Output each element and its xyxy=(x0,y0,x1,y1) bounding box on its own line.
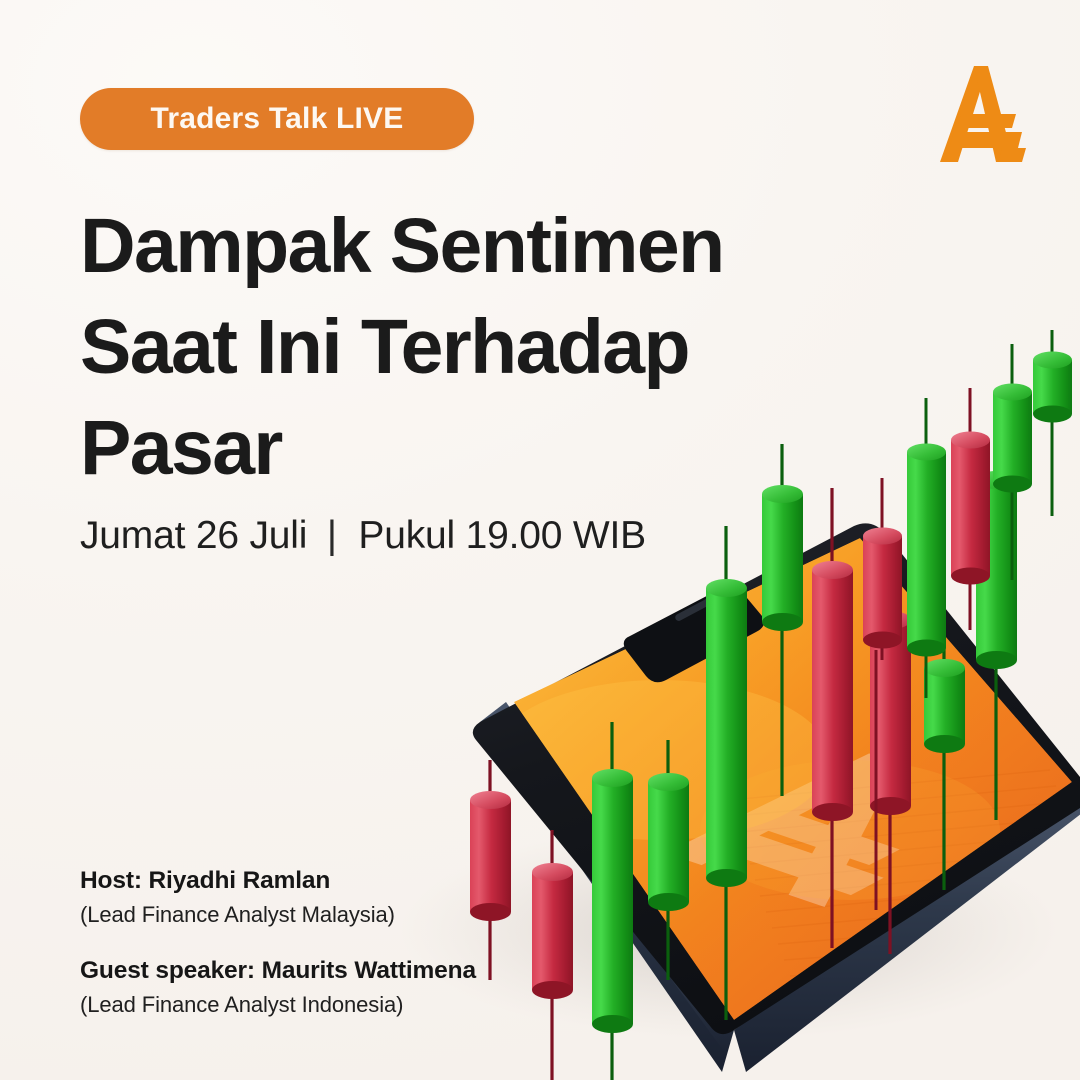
host-role: (Lead Finance Analyst Malaysia) xyxy=(80,901,476,930)
live-badge-label: Traders Talk LIVE xyxy=(151,102,404,136)
brand-logo xyxy=(930,58,1034,168)
letter-a-logo-icon xyxy=(930,58,1034,168)
speaker-guest: Guest speaker: Maurits Wattimena (Lead F… xyxy=(80,956,476,1019)
host-name: Host: Riyadhi Ramlan xyxy=(80,866,476,897)
rising-candle-cluster xyxy=(820,330,1080,710)
guest-role: (Lead Finance Analyst Indonesia) xyxy=(80,991,476,1020)
candle-bullish xyxy=(993,344,1032,580)
promo-card: Traders Talk LIVE Dampak Sentimen Saat I… xyxy=(0,0,1080,1080)
candle-bullish xyxy=(1033,330,1072,516)
candle-bullish xyxy=(592,722,633,1080)
live-badge[interactable]: Traders Talk LIVE xyxy=(80,88,474,150)
candle-bearish xyxy=(951,388,990,630)
speaker-host: Host: Riyadhi Ramlan (Lead Finance Analy… xyxy=(80,866,476,929)
candle-bearish xyxy=(532,830,573,1080)
speaker-list: Host: Riyadhi Ramlan (Lead Finance Analy… xyxy=(80,866,476,1019)
guest-name: Guest speaker: Maurits Wattimena xyxy=(80,956,476,987)
candle-bullish xyxy=(907,398,946,698)
event-date: Jumat 26 Juli xyxy=(80,514,307,557)
candle-bearish xyxy=(863,478,902,660)
headline-line-1: Dampak Sentimen xyxy=(80,196,840,297)
